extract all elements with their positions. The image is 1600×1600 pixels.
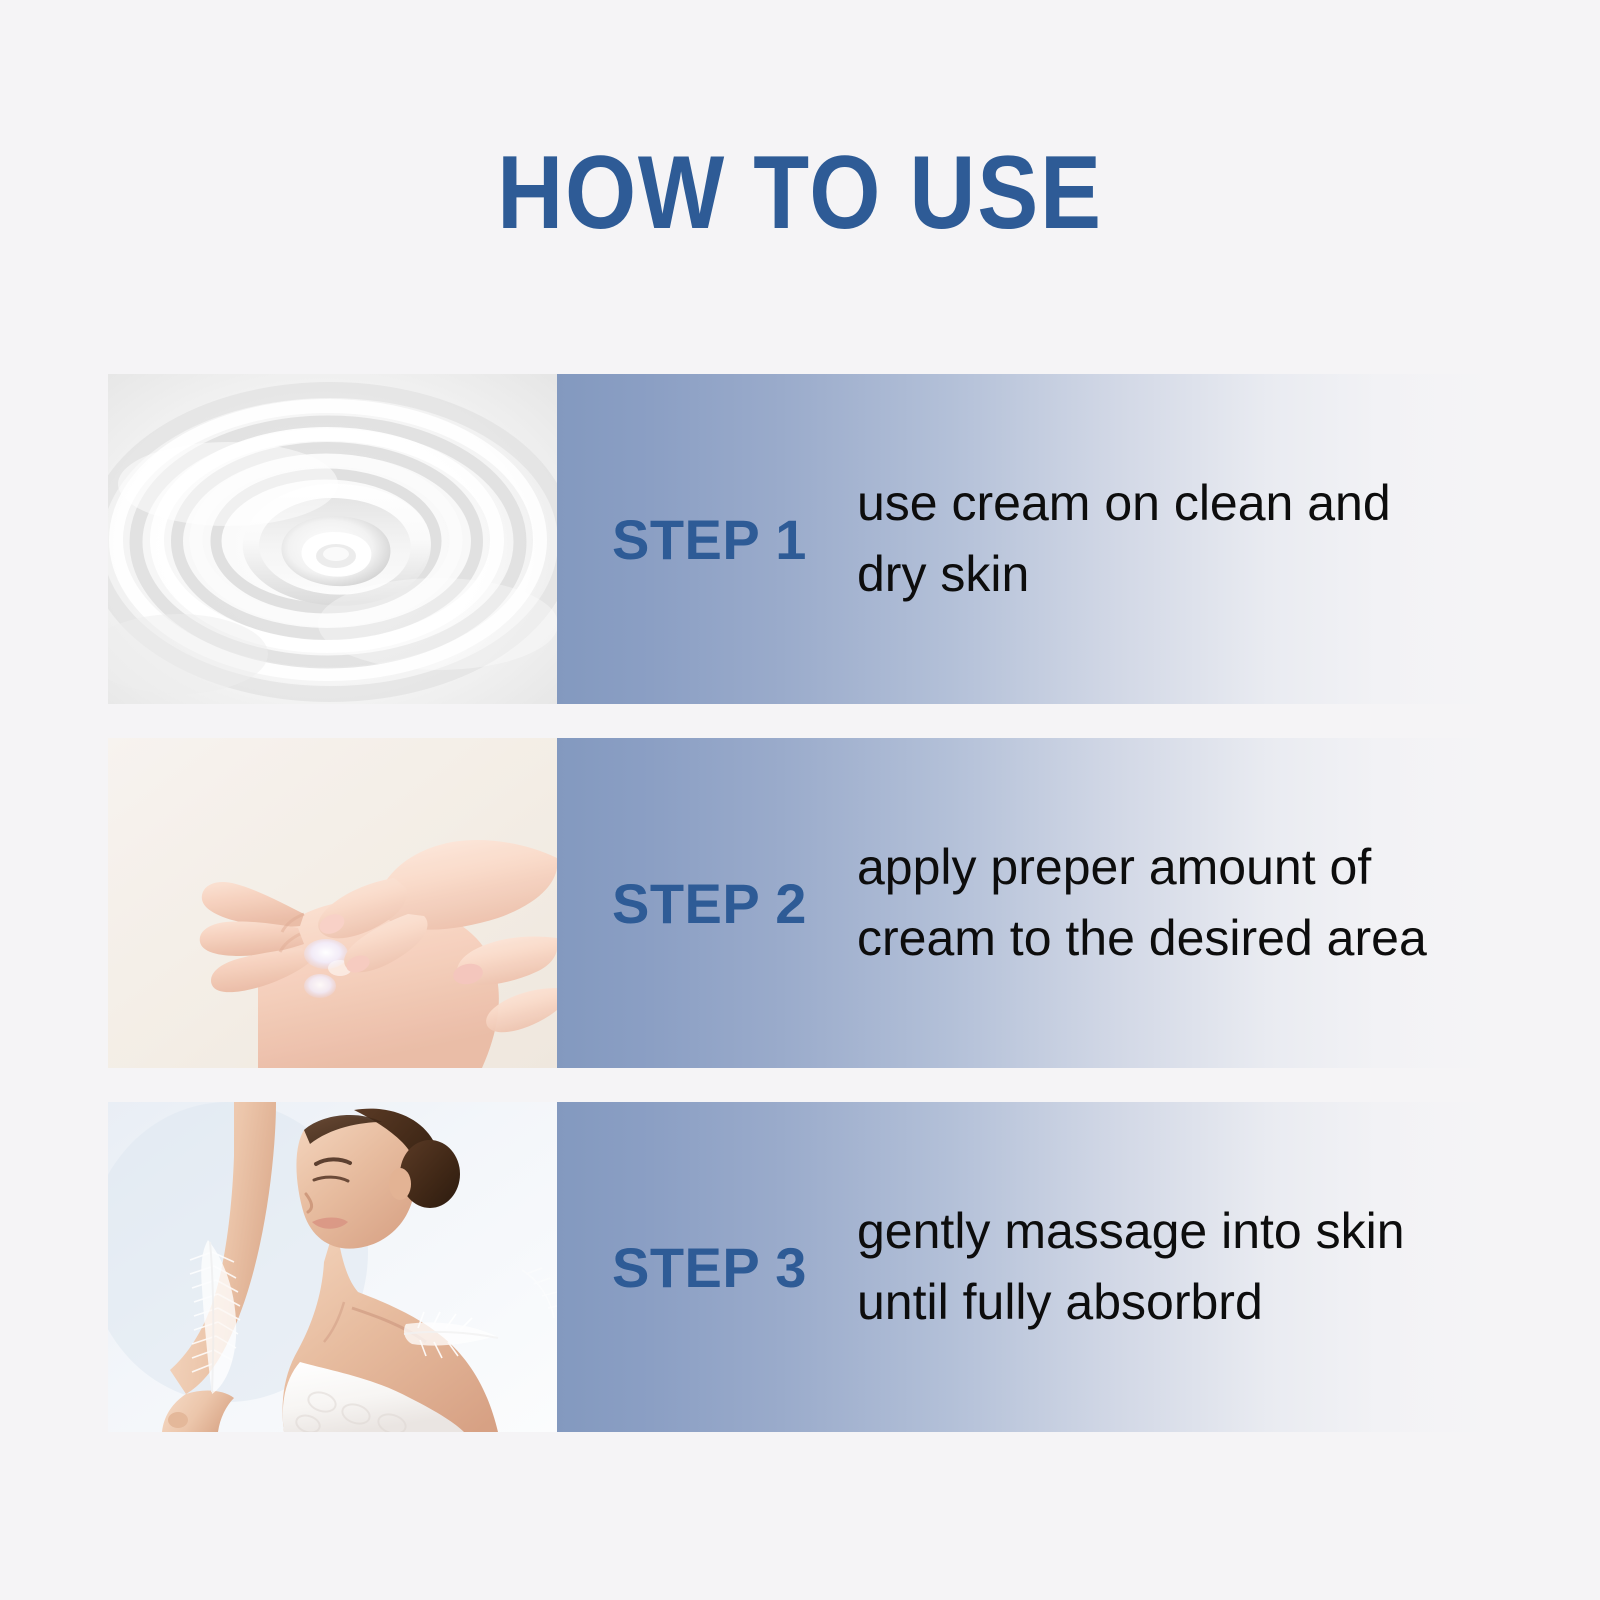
steps-list: STEP 1 use cream on clean and dry skin bbox=[108, 374, 1492, 1432]
woman-underarm-feathers-illustration bbox=[108, 1102, 557, 1432]
hands-applying-cream-illustration bbox=[108, 738, 557, 1068]
step-description: gently massage into skin until fully abs… bbox=[857, 1196, 1467, 1338]
step-row: STEP 1 use cream on clean and dry skin bbox=[108, 374, 1492, 704]
step-label: STEP 2 bbox=[557, 871, 857, 936]
step-text-band: STEP 3 gently massage into skin until fu… bbox=[557, 1102, 1492, 1432]
hands-applying-cream-photo bbox=[108, 738, 557, 1068]
step-row: STEP 2 apply preper amount of cream to t… bbox=[108, 738, 1492, 1068]
cream-swirl-illustration bbox=[108, 374, 557, 704]
step-text-band: STEP 2 apply preper amount of cream to t… bbox=[557, 738, 1492, 1068]
step-row: STEP 3 gently massage into skin until fu… bbox=[108, 1102, 1492, 1432]
step-description: use cream on clean and dry skin bbox=[857, 468, 1467, 610]
page-title: HOW TO USE bbox=[96, 139, 1504, 248]
woman-underarm-feathers-photo bbox=[108, 1102, 557, 1432]
step-label: STEP 1 bbox=[557, 507, 857, 572]
step-text-band: STEP 1 use cream on clean and dry skin bbox=[557, 374, 1492, 704]
cream-swirl-photo bbox=[108, 374, 557, 704]
step-description: apply preper amount of cream to the desi… bbox=[857, 832, 1467, 974]
step-label: STEP 3 bbox=[557, 1235, 857, 1300]
